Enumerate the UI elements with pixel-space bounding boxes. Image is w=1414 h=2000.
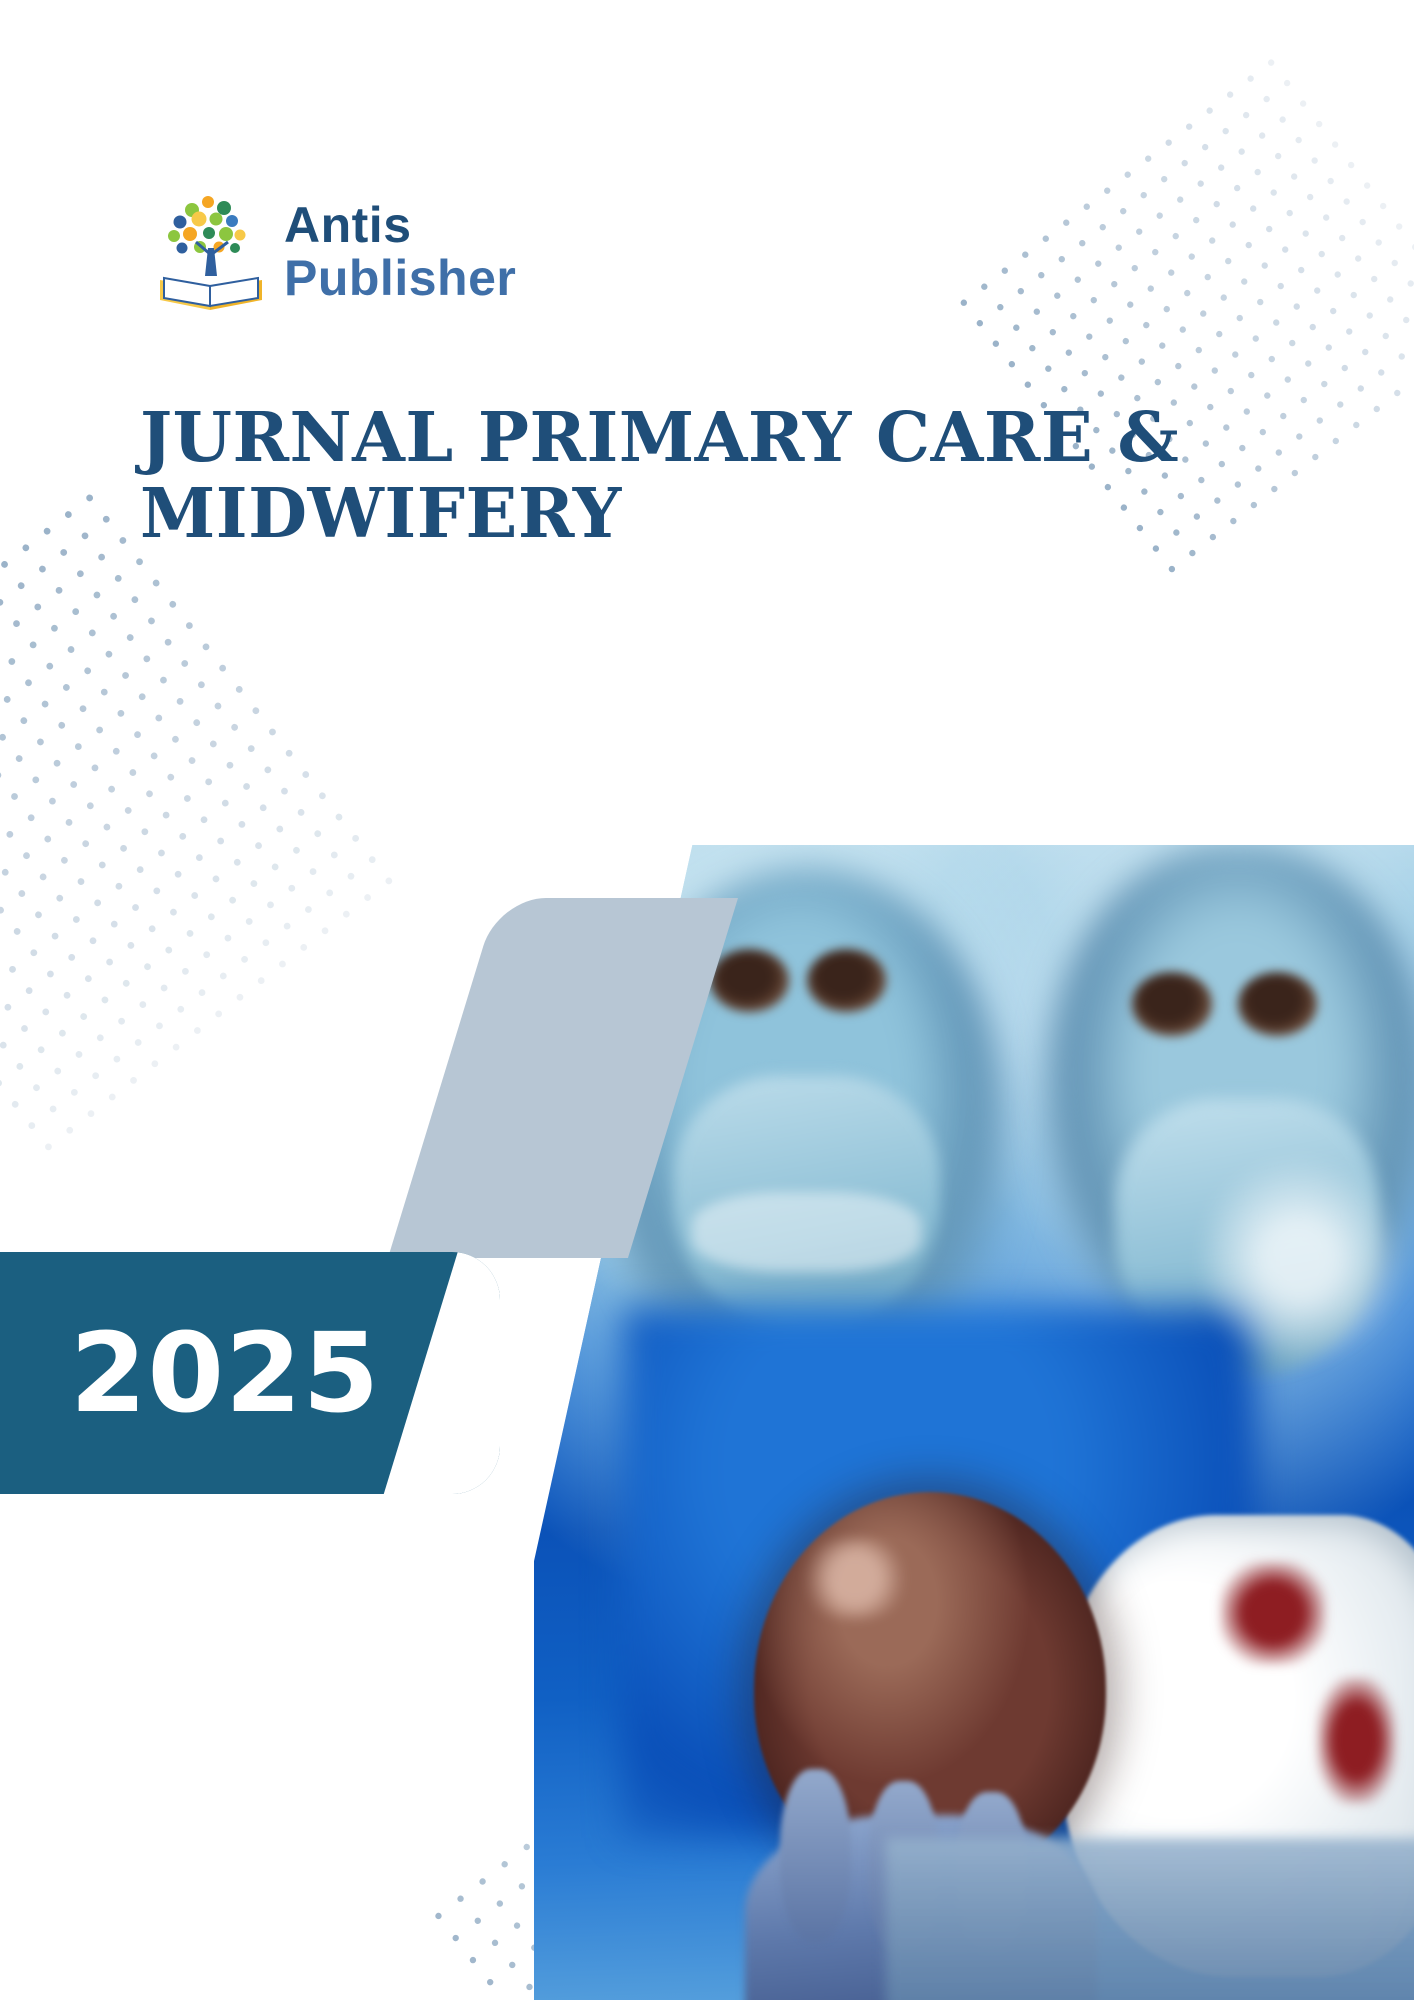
journal-cover-page: Antis Publisher JURNAL PRIMARY CARE & MI… xyxy=(0,0,1414,2000)
publisher-name-line1: Antis xyxy=(284,199,516,252)
year-label: 2025 xyxy=(70,1309,380,1437)
journal-title: JURNAL PRIMARY CARE & MIDWIFERY xyxy=(140,400,1200,552)
publisher-name-line2: Publisher xyxy=(284,252,516,305)
year-badge-notch xyxy=(372,1252,500,1494)
dot-pattern-left-icon xyxy=(0,467,439,1172)
year-badge: 2025 xyxy=(0,1252,500,1494)
tree-book-logo-icon xyxy=(152,188,270,316)
publisher-logo: Antis Publisher xyxy=(152,188,516,316)
publisher-name: Antis Publisher xyxy=(284,199,516,305)
